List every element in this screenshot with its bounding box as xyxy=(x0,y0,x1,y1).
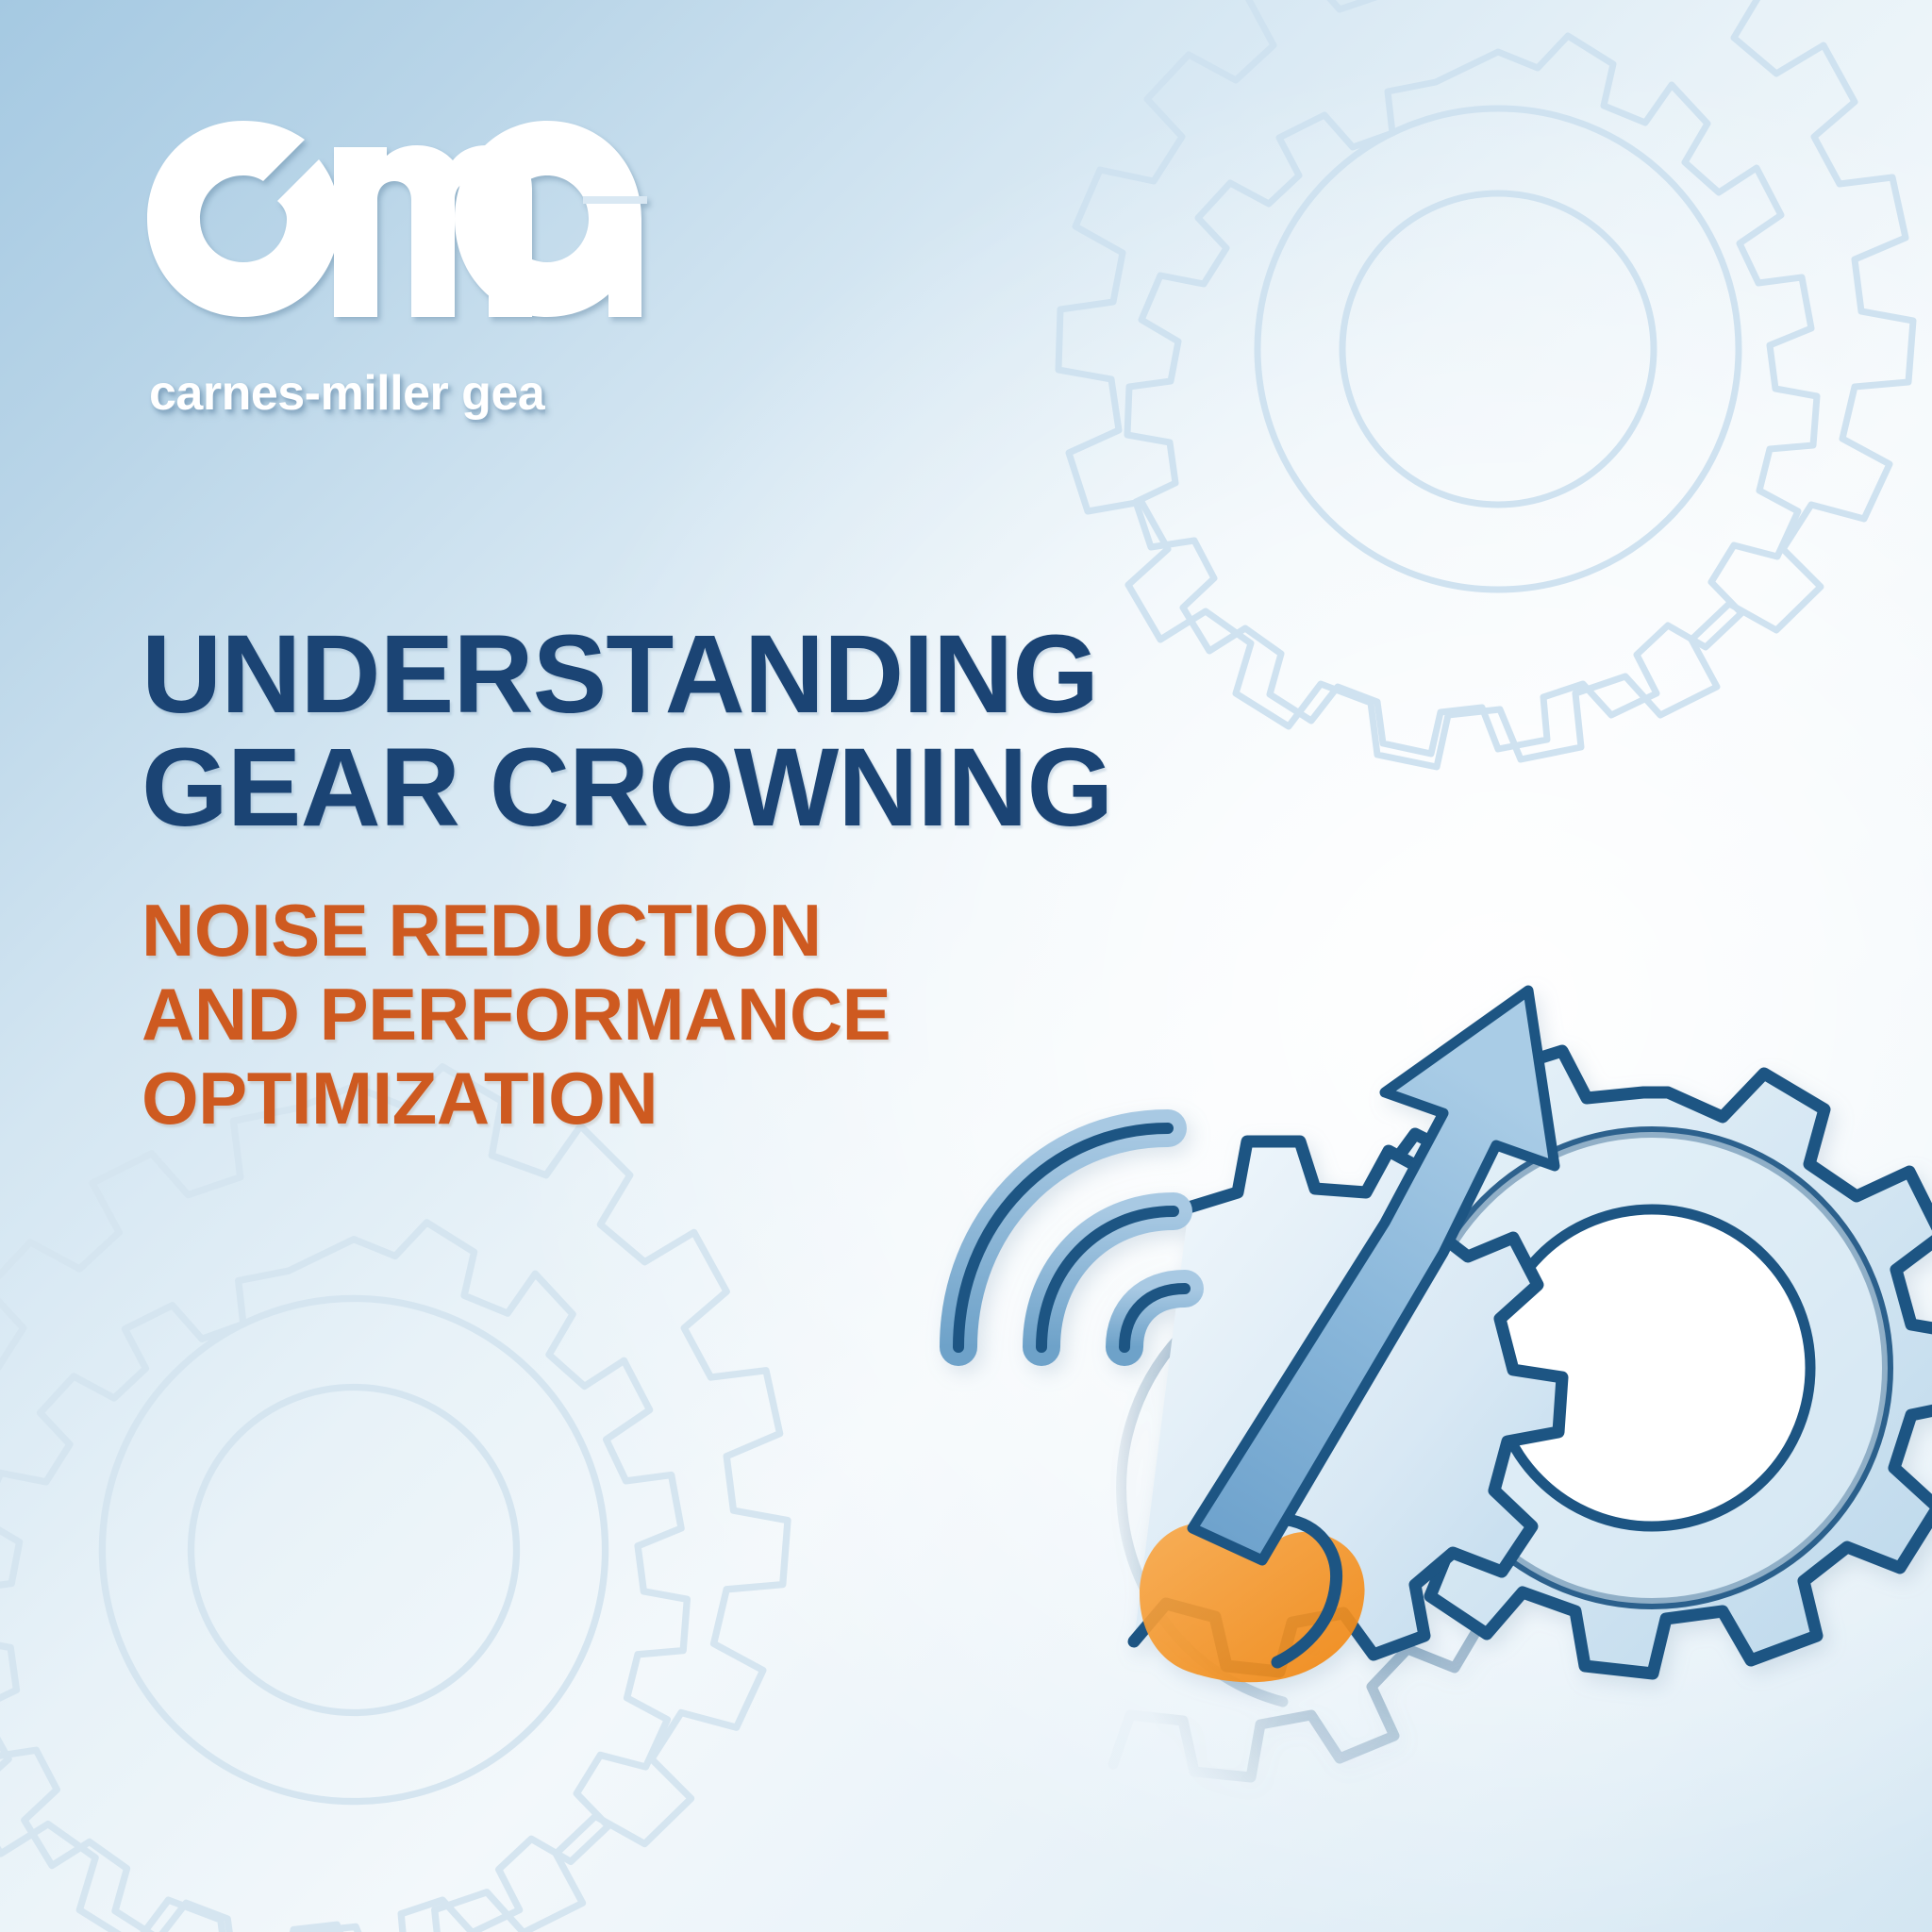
watermark-gear-bottom-left xyxy=(0,1008,896,1932)
cmg-monogram-icon xyxy=(140,113,649,368)
gear-illustration xyxy=(857,781,1932,1932)
brand-logo[interactable]: carnes-miller gear xyxy=(140,113,649,423)
poster-canvas: carnes-miller gear UNDERSTANDING GEAR CR… xyxy=(0,0,1932,1932)
gear-illustration-svg xyxy=(857,781,1932,1932)
headline-line-1: UNDERSTANDING xyxy=(142,612,1098,737)
logo-wordmark: carnes-miller gear xyxy=(149,364,545,423)
sound-waves-icon xyxy=(958,1128,1185,1347)
logo-wordmark-text: carnes-miller gear xyxy=(149,366,545,421)
